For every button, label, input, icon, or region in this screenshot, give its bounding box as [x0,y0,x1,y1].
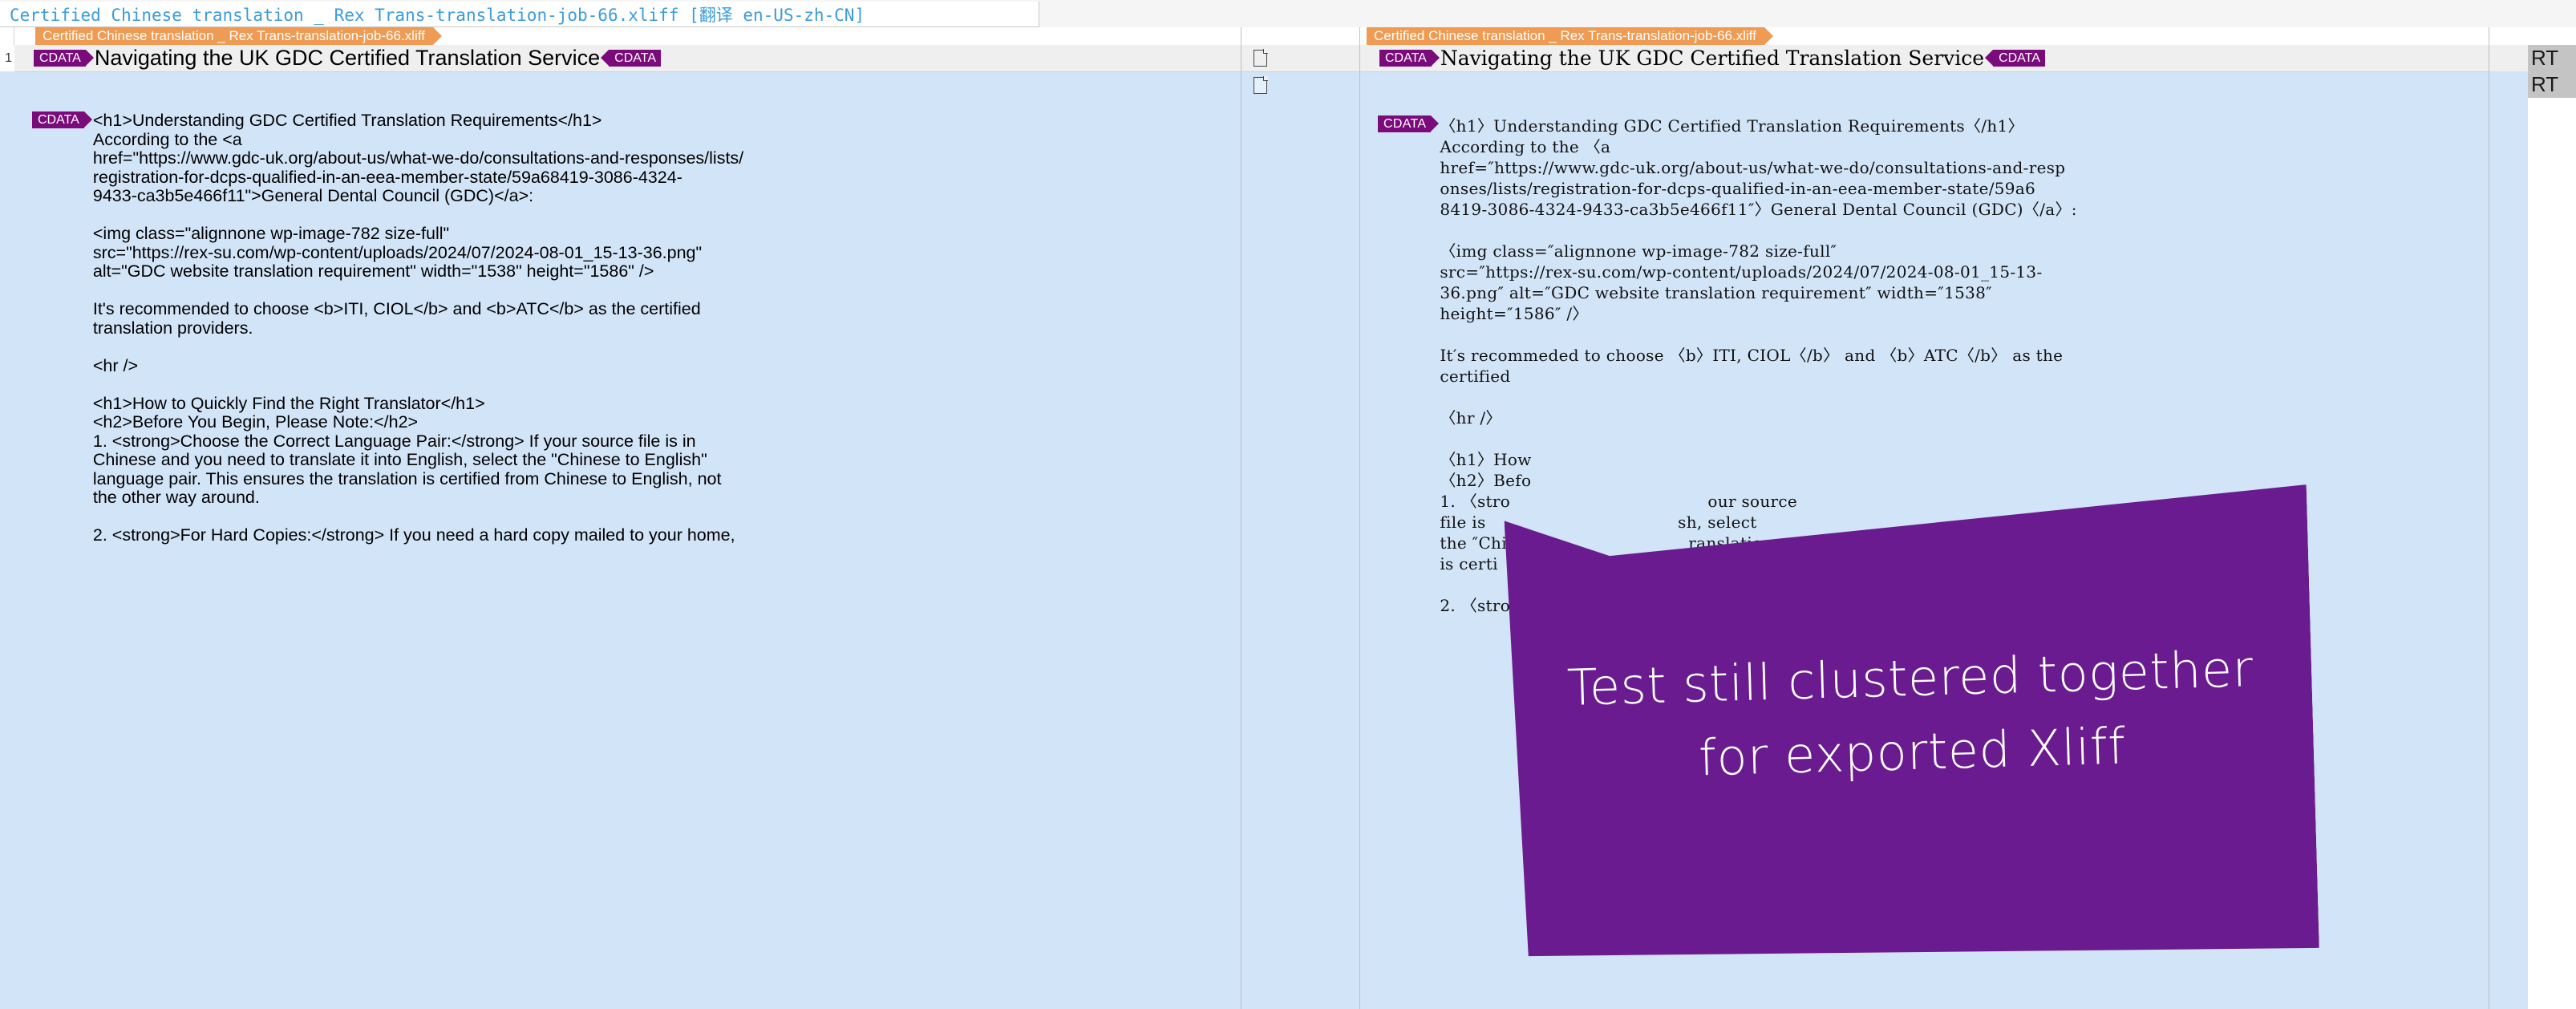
segment-state-column [1241,27,1360,1009]
target-row-1-text: Navigating the UK GDC Certified Translat… [1440,47,1984,70]
source-row-1-text: Navigating the UK GDC Certified Translat… [95,46,600,71]
row-number-1: 1 [0,45,14,71]
document-tab[interactable]: Certified Chinese translation _ Rex Tran… [0,2,1039,27]
mid-row-2-band [1241,71,1359,1009]
status-badge-row-1[interactable]: RT [2528,45,2576,71]
document-tab-label: Certified Chinese translation _ Rex Tran… [10,2,865,26]
document-icon-fold [1263,76,1268,81]
source-cell-row-2[interactable]: CDATA<h1>Understanding GDC Certified Tra… [32,74,1235,583]
breadcrumb-source-label: Certified Chinese translation _ Rex Tran… [43,28,425,43]
title-bar-filler [1039,0,2576,28]
source-column[interactable]: Certified Chinese translation _ Rex Tran… [14,27,1241,1009]
cdata-close-tag-icon-target[interactable]: CDATA [1993,50,2045,67]
target-cell-row-1[interactable]: CDATANavigating the UK GDC Certified Tra… [1379,45,2045,71]
breadcrumb-target-label: Certified Chinese translation _ Rex Tran… [1374,28,1756,43]
cdata-close-tag-icon[interactable]: CDATA [609,50,661,67]
cdata-open-tag-icon-row2[interactable]: CDATA [32,111,84,128]
document-icon-fold [1263,49,1268,54]
cdata-open-tag-icon[interactable]: CDATA [34,50,86,67]
cdata-open-tag-icon-target[interactable]: CDATA [1379,50,1432,67]
breadcrumb-target[interactable]: Certified Chinese translation _ Rex Tran… [1367,27,1764,45]
annotation-callout: Test still clustered together for export… [1504,484,2319,971]
status-row-1-band [2489,45,2528,71]
status-row-2-band [2489,71,2528,1009]
cdata-open-tag-icon-target-row2[interactable]: CDATA [1378,115,1431,132]
annotation-callout-text: Test still clustered together for export… [1508,630,2315,825]
window-title-bar: Certified Chinese translation _ Rex Tran… [0,0,2576,27]
document-icon-row-2[interactable] [1254,77,1267,94]
row-number-2 [0,71,14,1009]
breadcrumb-source[interactable]: Certified Chinese translation _ Rex Tran… [35,27,433,45]
source-row-2-text: <h1>Understanding GDC Certified Translat… [93,111,743,545]
status-badge-row-2[interactable]: RT [2528,71,2576,98]
status-column[interactable]: RT RT [2489,27,2576,1009]
source-cell-row-1[interactable]: CDATANavigating the UK GDC Certified Tra… [34,45,661,71]
document-icon-row-1[interactable] [1254,50,1267,67]
row-number-gutter: 1 [0,27,14,1009]
